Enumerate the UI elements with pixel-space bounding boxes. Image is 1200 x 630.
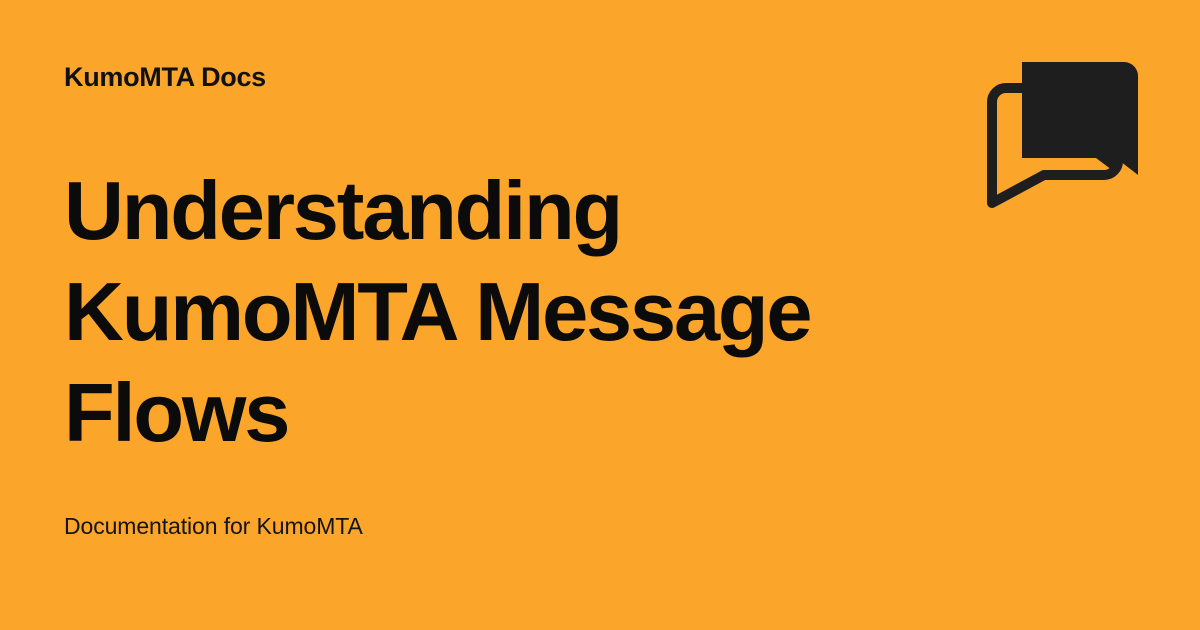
site-name: KumoMTA Docs [64, 64, 266, 91]
og-card: KumoMTA Docs Understanding KumoMTA Messa… [0, 0, 1200, 630]
page-subtitle: Documentation for KumoMTA [64, 512, 363, 542]
page-title: Understanding KumoMTA Message Flows [64, 160, 944, 463]
chat-bubbles-icon [986, 55, 1146, 210]
logo-mark [986, 55, 1146, 210]
